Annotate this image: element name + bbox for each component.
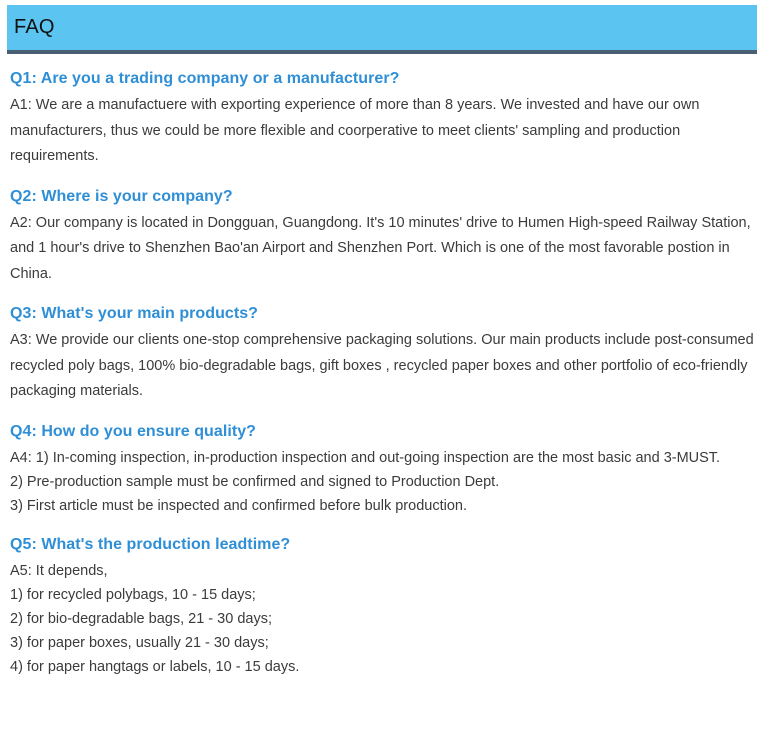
faq-item: Q5: What's the production leadtime?A5: I… bbox=[10, 534, 755, 679]
faq-answer: A3: We provide our clients one-stop comp… bbox=[10, 328, 755, 405]
faq-question: Q1: Are you a trading company or a manuf… bbox=[10, 68, 755, 90]
faq-header-banner: FAQ bbox=[7, 5, 757, 54]
faq-answer: A5: It depends,1) for recycled polybags,… bbox=[10, 559, 755, 679]
faq-question: Q3: What's your main products? bbox=[10, 303, 755, 325]
faq-answer-line: 3) for paper boxes, usually 21 - 30 days… bbox=[10, 631, 755, 655]
faq-answer-line: 1) for recycled polybags, 10 - 15 days; bbox=[10, 583, 755, 607]
faq-item: Q4: How do you ensure quality?A4: 1) In-… bbox=[10, 421, 755, 518]
faq-question: Q5: What's the production leadtime? bbox=[10, 534, 755, 556]
faq-answer-line: 4) for paper hangtags or labels, 10 - 15… bbox=[10, 655, 755, 679]
faq-answer-line: 3) First article must be inspected and c… bbox=[10, 494, 755, 518]
faq-question: Q4: How do you ensure quality? bbox=[10, 421, 755, 443]
faq-answer-line: A4: 1) In-coming inspection, in-producti… bbox=[10, 446, 755, 470]
faq-answer: A4: 1) In-coming inspection, in-producti… bbox=[10, 446, 755, 518]
faq-answer: A1: We are a manufactuere with exporting… bbox=[10, 93, 755, 170]
faq-page: FAQ Q1: Are you a trading company or a m… bbox=[0, 0, 765, 748]
faq-answer-line: 2) for bio-degradable bags, 21 - 30 days… bbox=[10, 607, 755, 631]
faq-answer-line: 2) Pre-production sample must be confirm… bbox=[10, 470, 755, 494]
faq-answer-line: A5: It depends, bbox=[10, 559, 755, 583]
faq-list: Q1: Are you a trading company or a manuf… bbox=[10, 68, 755, 679]
faq-item: Q2: Where is your company?A2: Our compan… bbox=[10, 186, 755, 288]
page-title: FAQ bbox=[14, 13, 55, 41]
faq-question: Q2: Where is your company? bbox=[10, 186, 755, 208]
faq-item: Q1: Are you a trading company or a manuf… bbox=[10, 68, 755, 170]
faq-item: Q3: What's your main products?A3: We pro… bbox=[10, 303, 755, 405]
faq-answer: A2: Our company is located in Dongguan, … bbox=[10, 211, 755, 288]
